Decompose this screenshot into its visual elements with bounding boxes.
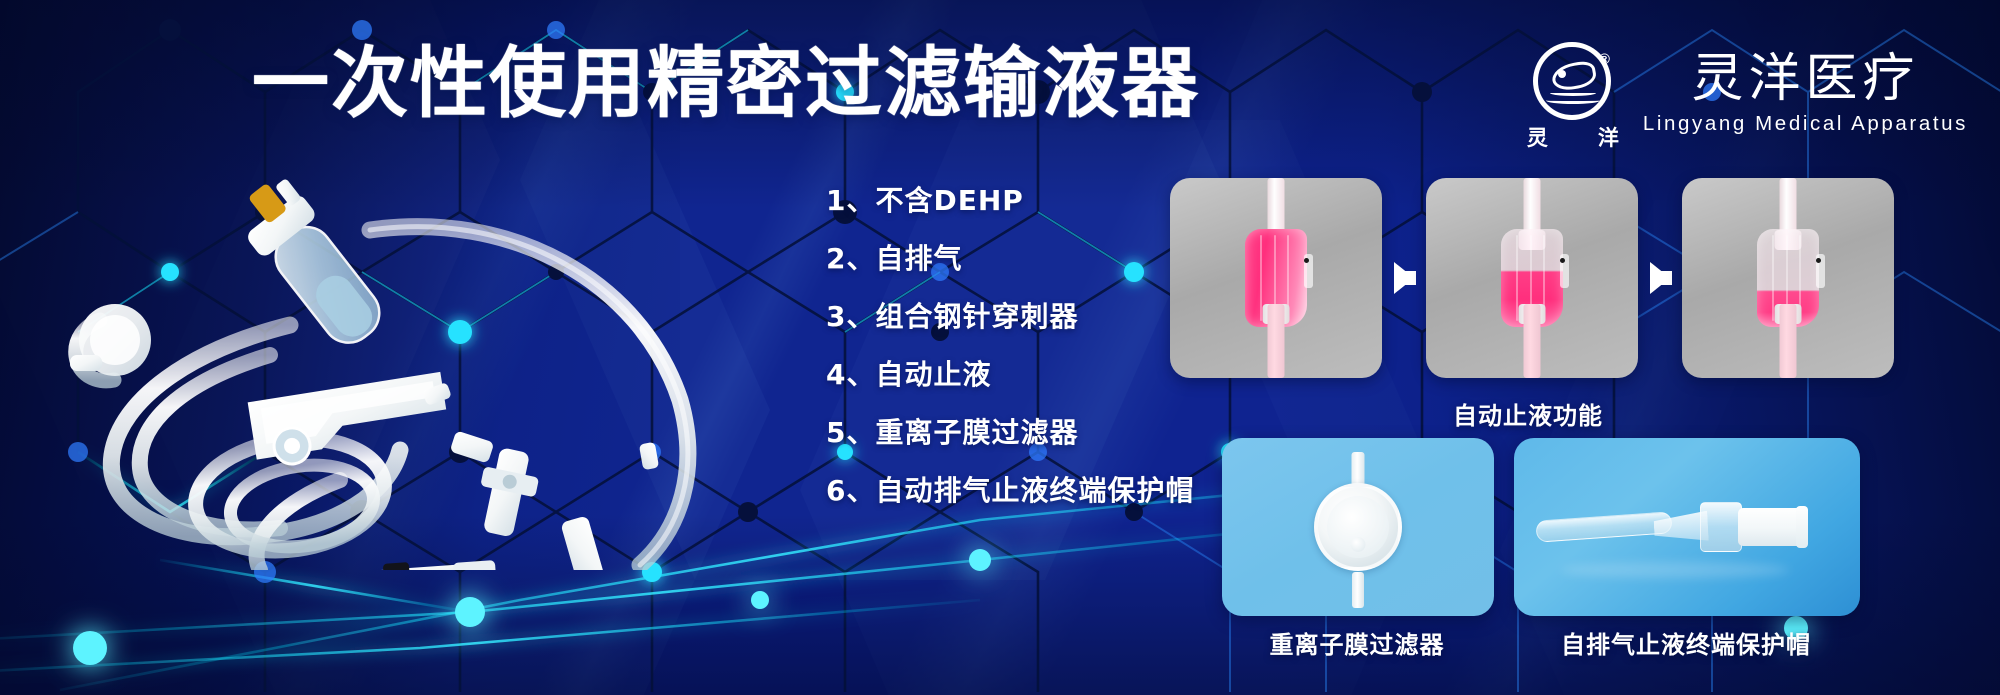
tube-bottom bbox=[1524, 304, 1541, 378]
sequence-frame-2 bbox=[1426, 178, 1638, 378]
product-card-cap-caption: 自排气止液终端保护帽 bbox=[1512, 625, 1860, 660]
cap-end-ring bbox=[1796, 506, 1808, 548]
filter-housing bbox=[1314, 483, 1402, 571]
cap-luer-hub bbox=[1700, 502, 1742, 552]
feature-item-6: 6、自动排气止液终端保护帽 bbox=[826, 462, 1194, 520]
sequence-arrow-2 bbox=[1638, 178, 1682, 378]
cap-shadow bbox=[1560, 562, 1790, 578]
filter-outlet-nub bbox=[1351, 537, 1366, 552]
company-name-cn: 灵洋医疗 bbox=[1691, 52, 1919, 107]
logo-wordmark: 灵洋医疗 Lingyang Medical Apparatus bbox=[1643, 52, 1968, 136]
product-banner: 一次性使用精密过滤输液器 ® 灵 洋 灵洋医疗 Lingyang Medical… bbox=[0, 0, 2000, 695]
logo-wave-upper-icon bbox=[1550, 90, 1596, 96]
feature-list: 1、不含DEHP 2、自排气 3、组合钢针穿刺器 4、自动止液 5、重离子膜过滤… bbox=[826, 172, 1194, 520]
sequence-caption: 自动止液功能 bbox=[1194, 396, 1862, 431]
product-card-cap bbox=[1514, 438, 1860, 616]
feature-item-4: 4、自动止液 bbox=[826, 346, 1194, 404]
sequence-frame-1 bbox=[1170, 178, 1382, 378]
tube-bottom bbox=[1268, 304, 1285, 378]
logo-mark-characters: 灵 洋 bbox=[1527, 122, 1619, 152]
auto-stop-sequence bbox=[1170, 178, 1894, 378]
sequence-arrow-1 bbox=[1382, 178, 1426, 378]
company-name-en: Lingyang Medical Apparatus bbox=[1643, 112, 1968, 136]
logo-bird-eye-icon bbox=[1558, 70, 1566, 78]
logo-char-right: 洋 bbox=[1598, 122, 1619, 152]
logo-bird-icon bbox=[1550, 59, 1598, 92]
feature-item-5: 5、重离子膜过滤器 bbox=[826, 404, 1194, 462]
tube-bottom bbox=[1780, 304, 1797, 378]
arrow-right-icon bbox=[1394, 262, 1414, 294]
feature-item-3: 3、组合钢针穿刺器 bbox=[826, 288, 1194, 346]
cap-body bbox=[1738, 508, 1804, 546]
feature-item-2: 2、自排气 bbox=[826, 230, 1194, 288]
filter-inlet-stem bbox=[1352, 452, 1365, 486]
company-logo: ® 灵 洋 灵洋医疗 Lingyang Medical Apparatus bbox=[1527, 42, 1968, 146]
registered-trademark-icon: ® bbox=[1599, 51, 1610, 68]
logo-wave-lower-icon bbox=[1546, 97, 1600, 104]
logo-emblem-icon: ® 灵 洋 bbox=[1527, 42, 1623, 146]
arrow-right-icon bbox=[1650, 262, 1670, 294]
cap-tube bbox=[1535, 511, 1672, 542]
logo-char-left: 灵 bbox=[1527, 122, 1548, 152]
product-card-filter bbox=[1222, 438, 1494, 616]
page-title: 一次性使用精密过滤输液器 bbox=[252, 46, 1200, 123]
feature-item-1: 1、不含DEHP bbox=[826, 172, 1194, 230]
product-card-filter-caption: 重离子膜过滤器 bbox=[1222, 625, 1492, 660]
filter-outlet-stem bbox=[1352, 572, 1364, 608]
sequence-frame-3 bbox=[1682, 178, 1894, 378]
